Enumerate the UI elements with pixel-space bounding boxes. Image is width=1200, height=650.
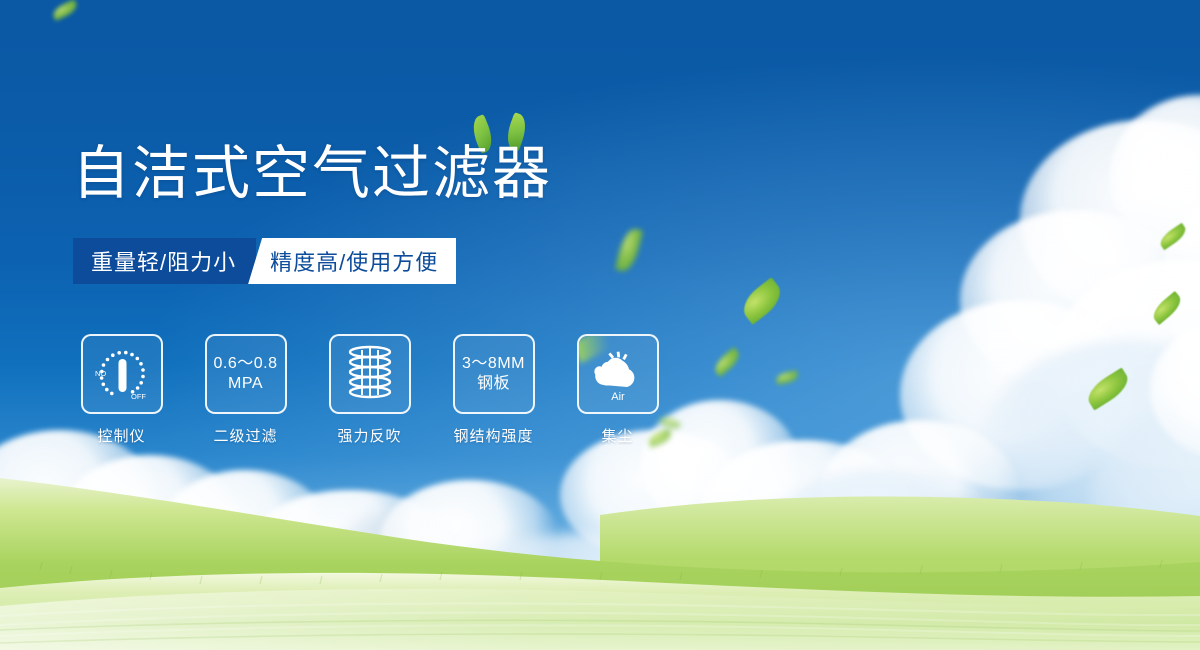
gauge-dial-icon: NO OFF — [89, 343, 155, 405]
feature-label: 钢结构强度 — [453, 425, 533, 446]
subtitle-secondary: 精度高/使用方便 — [248, 238, 456, 284]
banner-content: 自洁式空气过滤器 重量轻/阻力小 精度高/使用方便 — [0, 0, 1200, 650]
air-label: Air — [611, 391, 625, 403]
feature-label: 二级过滤 — [213, 425, 277, 446]
feature-icon-box: Air — [577, 334, 659, 414]
cloud-sun-air-icon: Air — [586, 343, 650, 405]
feature-list: NO OFF 控制仪 0.6～0.8 MPA 二级过滤 — [74, 334, 665, 446]
coil-filter-icon — [342, 343, 398, 405]
feature-item-dust-collection[interactable]: Air 集尘 — [570, 334, 665, 446]
subtitle-primary: 重量轻/阻力小 — [73, 238, 256, 284]
feature-label: 集尘 — [601, 425, 633, 446]
subtitle-strip: 重量轻/阻力小 精度高/使用方便 — [73, 238, 456, 284]
product-banner: 自洁式空气过滤器 重量轻/阻力小 精度高/使用方便 — [0, 0, 1200, 650]
feature-label: 控制仪 — [97, 425, 145, 446]
feature-icon-box: 3～8MM 钢板 — [453, 334, 535, 414]
feature-icon-box: NO OFF — [81, 334, 163, 414]
feature-icon-box — [329, 334, 411, 414]
feature-item-two-stage-filter[interactable]: 0.6～0.8 MPA 二级过滤 — [198, 334, 293, 446]
pressure-text-icon: 0.6～0.8 MPA — [214, 354, 278, 394]
feature-item-control-gauge[interactable]: NO OFF 控制仪 — [74, 334, 169, 446]
gauge-no-label: NO — [95, 369, 106, 378]
feature-item-steel-strength[interactable]: 3～8MM 钢板 钢结构强度 — [446, 334, 541, 446]
feature-label: 强力反吹 — [337, 425, 401, 446]
feature-item-back-blow[interactable]: 强力反吹 — [322, 334, 417, 446]
gauge-off-label: OFF — [131, 392, 146, 401]
steel-plate-text-icon: 3～8MM 钢板 — [462, 354, 525, 394]
page-title: 自洁式空气过滤器 — [72, 143, 552, 205]
feature-icon-box: 0.6～0.8 MPA — [205, 334, 287, 414]
